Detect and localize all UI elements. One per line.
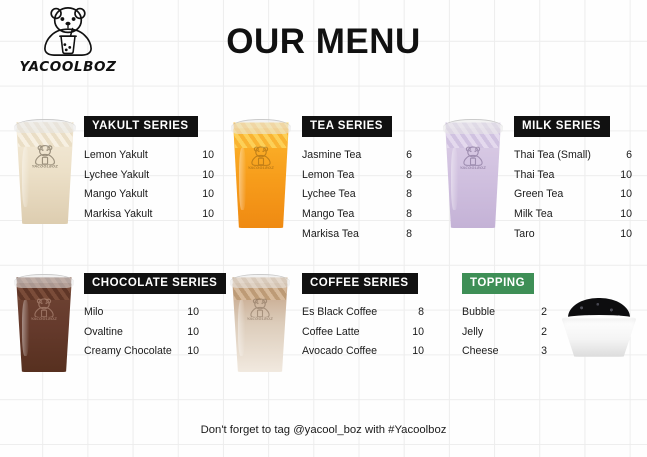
menu-item-row[interactable]: Markisa Tea 8 bbox=[302, 224, 412, 244]
cup-highlight bbox=[22, 147, 29, 207]
boba-pearls-bowl-image bbox=[560, 296, 638, 358]
footer-note: Don't forget to tag @yacool_boz with #Ya… bbox=[0, 424, 647, 436]
menu-item-row[interactable]: Milk Tea 10 bbox=[514, 205, 632, 225]
section-milk-series: MILK SERIES Thai Tea (Small) 6 Thai Tea … bbox=[514, 116, 632, 244]
item-price: 2 bbox=[541, 327, 547, 338]
section-coffee-series: COFFEE SERIES Es Black Coffee 8 Coffee L… bbox=[302, 273, 424, 362]
cup-bear-logo-icon: YACOOLBOZ bbox=[246, 298, 274, 322]
cup-lid bbox=[14, 119, 76, 134]
coffee-latte-drink-cup-image: YACOOLBOZ bbox=[230, 268, 290, 372]
cup-lid bbox=[231, 119, 291, 134]
item-price: 10 bbox=[412, 346, 424, 357]
item-list-milk-series: Thai Tea (Small) 6 Thai Tea 10 Green Tea… bbox=[514, 145, 632, 244]
item-name: Mango Tea bbox=[302, 209, 354, 220]
item-price: 10 bbox=[620, 209, 632, 220]
item-name: Es Black Coffee bbox=[302, 307, 377, 318]
cup-highlight bbox=[451, 148, 458, 210]
item-price: 2 bbox=[541, 307, 547, 318]
item-name: Jasmine Tea bbox=[302, 150, 361, 161]
menu-item-row[interactable]: Jelly 2 bbox=[462, 322, 547, 342]
menu-item-row[interactable]: Es Black Coffee 8 bbox=[302, 302, 424, 322]
menu-item-row[interactable]: Markisa Yakult 10 bbox=[84, 205, 214, 225]
section-yakult-series: YAKULT SERIES Lemon Yakult 10 Lychee Yak… bbox=[84, 116, 214, 224]
item-price: 10 bbox=[620, 189, 632, 200]
item-price: 8 bbox=[418, 307, 424, 318]
item-price: 8 bbox=[406, 229, 412, 240]
item-price: 8 bbox=[406, 209, 412, 220]
item-list-yakult-series: Lemon Yakult 10 Lychee Yakult 10 Mango Y… bbox=[84, 145, 214, 224]
item-name: Lychee Yakult bbox=[84, 170, 149, 181]
section-tea-series: TEA SERIES Jasmine Tea 6 Lemon Tea 8 Lyc… bbox=[302, 116, 412, 244]
item-price: 10 bbox=[202, 189, 214, 200]
section-header-coffee-series: COFFEE SERIES bbox=[302, 273, 418, 294]
cup-lid bbox=[14, 274, 74, 288]
item-name: Bubble bbox=[462, 307, 495, 318]
item-price: 8 bbox=[406, 189, 412, 200]
menu-item-row[interactable]: Milo 10 bbox=[84, 302, 199, 322]
menu-item-row[interactable]: Ovaltine 10 bbox=[84, 322, 199, 342]
taro-milk-drink-cup-image: YACOOLBOZ bbox=[443, 112, 503, 228]
item-name: Thai Tea (Small) bbox=[514, 150, 591, 161]
item-price: 10 bbox=[412, 327, 424, 338]
menu-item-row[interactable]: Thai Tea (Small) 6 bbox=[514, 145, 632, 165]
item-name: Cheese bbox=[462, 346, 499, 357]
menu-item-row[interactable]: Lychee Yakult 10 bbox=[84, 165, 214, 185]
item-price: 3 bbox=[541, 346, 547, 357]
menu-item-row[interactable]: Bubble 2 bbox=[462, 302, 547, 322]
item-name: Coffee Latte bbox=[302, 327, 360, 338]
section-header-topping: TOPPING bbox=[462, 273, 534, 294]
item-price: 10 bbox=[620, 229, 632, 240]
item-price: 10 bbox=[202, 150, 214, 161]
section-header-yakult-series: YAKULT SERIES bbox=[84, 116, 198, 137]
section-chocolate-series: CHOCOLATE SERIES Milo 10 Ovaltine 10 Cre… bbox=[84, 273, 199, 362]
menu-item-row[interactable]: Coffee Latte 10 bbox=[302, 322, 424, 342]
item-list-chocolate-series: Milo 10 Ovaltine 10 Creamy Chocolate 10 bbox=[84, 302, 199, 361]
menu-item-row[interactable]: Green Tea 10 bbox=[514, 185, 632, 205]
item-name: Milk Tea bbox=[514, 209, 553, 220]
item-price: 6 bbox=[626, 150, 632, 161]
item-price: 10 bbox=[187, 346, 199, 357]
item-name: Avocado Coffee bbox=[302, 346, 377, 357]
cup-bear-logo-icon: YACOOLBOZ bbox=[459, 146, 487, 170]
item-price: 10 bbox=[187, 327, 199, 338]
tea-drink-cup-image: YACOOLBOZ bbox=[231, 112, 291, 228]
item-name: Markisa Yakult bbox=[84, 209, 153, 220]
item-name: Thai Tea bbox=[514, 170, 554, 181]
item-name: Lemon Yakult bbox=[84, 150, 148, 161]
item-price: 8 bbox=[406, 170, 412, 181]
item-price: 10 bbox=[620, 170, 632, 181]
item-price: 10 bbox=[202, 170, 214, 181]
item-name: Taro bbox=[514, 229, 535, 240]
section-topping: TOPPING Bubble 2 Jelly 2 Cheese 3 bbox=[462, 273, 547, 362]
cup-highlight bbox=[239, 148, 246, 210]
menu-poster: YACOOLBOZ OUR MENU YACOOLB bbox=[0, 0, 647, 457]
menu-item-row[interactable]: Jasmine Tea 6 bbox=[302, 145, 412, 165]
bowl-body bbox=[562, 318, 637, 356]
item-name: Ovaltine bbox=[84, 327, 123, 338]
cup-highlight bbox=[238, 300, 245, 355]
section-header-chocolate-series: CHOCOLATE SERIES bbox=[84, 273, 226, 294]
cup-lid bbox=[443, 119, 503, 134]
item-list-coffee-series: Es Black Coffee 8 Coffee Latte 10 Avocad… bbox=[302, 302, 424, 361]
cup-highlight bbox=[22, 300, 29, 355]
cup-bear-logo-icon: YACOOLBOZ bbox=[247, 146, 275, 170]
menu-item-row[interactable]: Taro 10 bbox=[514, 224, 632, 244]
item-list-tea-series: Jasmine Tea 6 Lemon Tea 8 Lychee Tea 8 M… bbox=[302, 145, 412, 244]
menu-item-row[interactable]: Creamy Chocolate 10 bbox=[84, 342, 199, 362]
menu-item-row[interactable]: Lemon Yakult 10 bbox=[84, 145, 214, 165]
section-header-tea-series: TEA SERIES bbox=[302, 116, 392, 137]
yakult-drink-cup-image: YACOOLBOZ bbox=[14, 112, 76, 224]
item-name: Jelly bbox=[462, 327, 483, 338]
menu-item-row[interactable]: Lychee Tea 8 bbox=[302, 185, 412, 205]
chocolate-drink-cup-image: YACOOLBOZ bbox=[14, 268, 74, 372]
menu-item-row[interactable]: Avocado Coffee 10 bbox=[302, 342, 424, 362]
menu-item-row[interactable]: Mango Yakult 10 bbox=[84, 185, 214, 205]
item-price: 10 bbox=[202, 209, 214, 220]
menu-item-row[interactable]: Mango Tea 8 bbox=[302, 205, 412, 225]
item-list-topping: Bubble 2 Jelly 2 Cheese 3 bbox=[462, 302, 547, 361]
item-price: 6 bbox=[406, 150, 412, 161]
cup-bear-logo-icon: YACOOLBOZ bbox=[30, 298, 58, 322]
item-name: Milo bbox=[84, 307, 103, 318]
cup-lid bbox=[230, 274, 290, 288]
menu-item-row[interactable]: Thai Tea 10 bbox=[514, 165, 632, 185]
item-name: Lychee Tea bbox=[302, 189, 356, 200]
item-price: 10 bbox=[187, 307, 199, 318]
section-header-milk-series: MILK SERIES bbox=[514, 116, 610, 137]
cup-bear-logo-icon: YACOOLBOZ bbox=[31, 145, 60, 170]
item-name: Creamy Chocolate bbox=[84, 346, 172, 357]
page-title: OUR MENU bbox=[0, 22, 647, 62]
item-name: Lemon Tea bbox=[302, 170, 354, 181]
menu-item-row[interactable]: Cheese 3 bbox=[462, 342, 547, 362]
item-name: Mango Yakult bbox=[84, 189, 148, 200]
item-name: Green Tea bbox=[514, 189, 563, 200]
item-name: Markisa Tea bbox=[302, 229, 359, 240]
menu-item-row[interactable]: Lemon Tea 8 bbox=[302, 165, 412, 185]
